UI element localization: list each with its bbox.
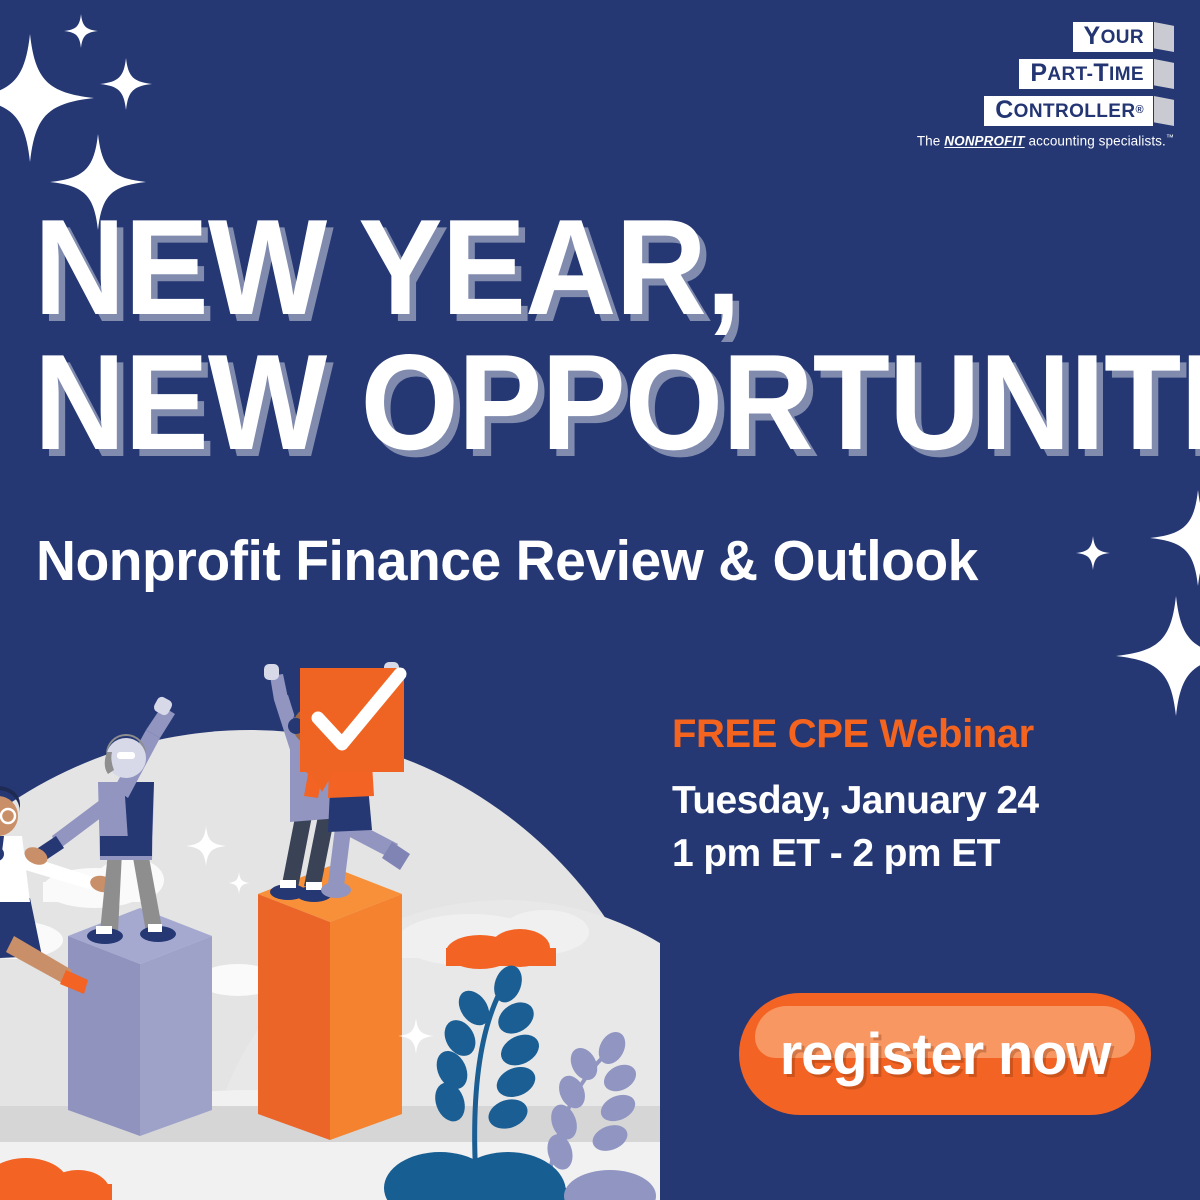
logo-text-t: T [1093, 61, 1109, 86]
logo-tab-icon [1154, 22, 1174, 52]
sparkle-illus-c [398, 1018, 434, 1054]
logo-text-p: P [1030, 61, 1047, 86]
promo-poster: YOUR PART-TIME CONTROLLER® The NONPROFIT… [0, 0, 1200, 1200]
sparkle-right-large [1116, 596, 1200, 716]
event-time: 1 pm ET - 2 pm ET [672, 832, 1039, 876]
sparkle-top-small [64, 14, 98, 48]
sparkle-right-small [1076, 536, 1110, 570]
register-now-button[interactable]: register now [739, 993, 1151, 1115]
subtitle: Nonprofit Finance Review & Outlook [36, 528, 978, 594]
sparkle-top-mid [100, 58, 152, 110]
trademark-mark: ™ [1166, 133, 1174, 142]
registered-mark: ® [1135, 105, 1144, 116]
logo-row-part-time: PART-TIME [916, 59, 1174, 89]
register-now-label: register now [780, 1021, 1110, 1088]
sparkle-right-edge-cut [1150, 490, 1200, 586]
logo-text-your-initial: Y [1084, 24, 1101, 49]
orange-pedestal [258, 866, 402, 1140]
hero-illustration [0, 640, 660, 1200]
logo-tab-icon [1154, 59, 1174, 89]
logo-text-art: ART- [1047, 65, 1093, 84]
sparkle-illus-a [186, 826, 226, 866]
logo-plate-part-time: PART-TIME [1019, 59, 1153, 89]
headline-line-2: NEW OPPORTUNITIES [34, 340, 1104, 465]
tagline-after: accounting specialists. [1025, 134, 1166, 149]
event-kicker: FREE CPE Webinar [672, 712, 1039, 757]
sparkle-illus-b [228, 872, 250, 894]
bush-teal [384, 1152, 566, 1200]
purple-pedestal [68, 908, 212, 1136]
logo-plate-controller: CONTROLLER® [984, 96, 1153, 126]
logo-text-ontroller: ONTROLLER [1014, 102, 1136, 121]
logo-text-ime: IME [1109, 65, 1144, 84]
logo-text-your-rest: OUR [1101, 28, 1144, 47]
logo-text-c: C [995, 98, 1013, 123]
company-logo: YOUR PART-TIME CONTROLLER® The NONPROFIT… [916, 22, 1174, 149]
logo-row-your: YOUR [916, 22, 1174, 52]
event-date: Tuesday, January 24 [672, 779, 1039, 823]
logo-tab-icon [1154, 96, 1174, 126]
tagline-before: The [917, 134, 944, 149]
headline-line-1: NEW YEAR, [34, 205, 1104, 330]
tagline-emphasis: NONPROFIT [944, 134, 1024, 149]
event-details: FREE CPE Webinar Tuesday, January 24 1 p… [672, 712, 1039, 876]
logo-row-controller: CONTROLLER® [916, 96, 1174, 126]
logo-tagline: The NONPROFIT accounting specialists.™ [916, 133, 1174, 149]
headline-block: NEW YEAR, NEW OPPORTUNITIES [34, 205, 1184, 465]
logo-plate-your: YOUR [1073, 22, 1154, 52]
